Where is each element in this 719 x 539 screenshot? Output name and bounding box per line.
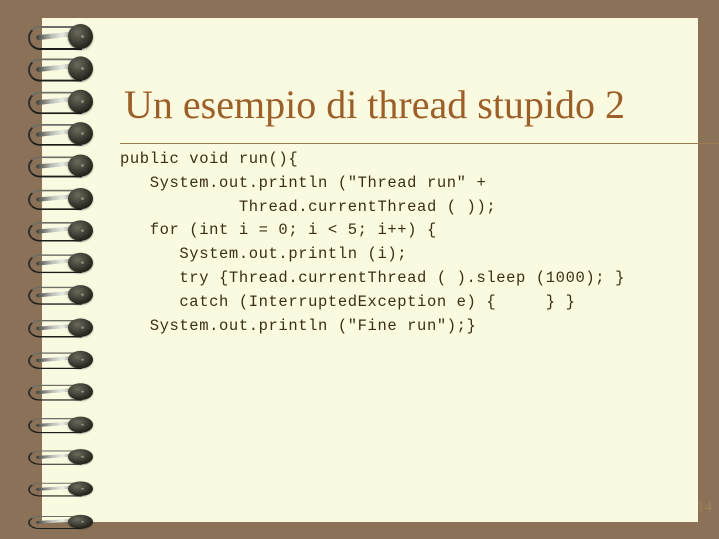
slide-canvas: Un esempio di thread stupido 2 public vo… xyxy=(0,0,719,539)
code-line: Thread.currentThread ( )); xyxy=(120,196,719,220)
code-line: public void run(){ xyxy=(120,148,719,172)
code-line: catch (InterruptedException e) { } } xyxy=(120,291,719,315)
code-line: System.out.println ("Thread run" + xyxy=(120,172,719,196)
code-line: for (int i = 0; i < 5; i++) { xyxy=(120,219,719,243)
code-line: System.out.println (i); xyxy=(120,243,719,267)
page-title: Un esempio di thread stupido 2 xyxy=(124,83,719,127)
title-divider xyxy=(120,143,719,144)
code-line: try {Thread.currentThread ( ).sleep (100… xyxy=(120,267,719,291)
code-block: public void run(){ System.out.println ("… xyxy=(120,148,719,338)
page-number: 14 xyxy=(697,499,719,516)
slide-page: Un esempio di thread stupido 2 public vo… xyxy=(42,18,698,522)
code-line: System.out.println ("Fine run");} xyxy=(120,315,719,339)
